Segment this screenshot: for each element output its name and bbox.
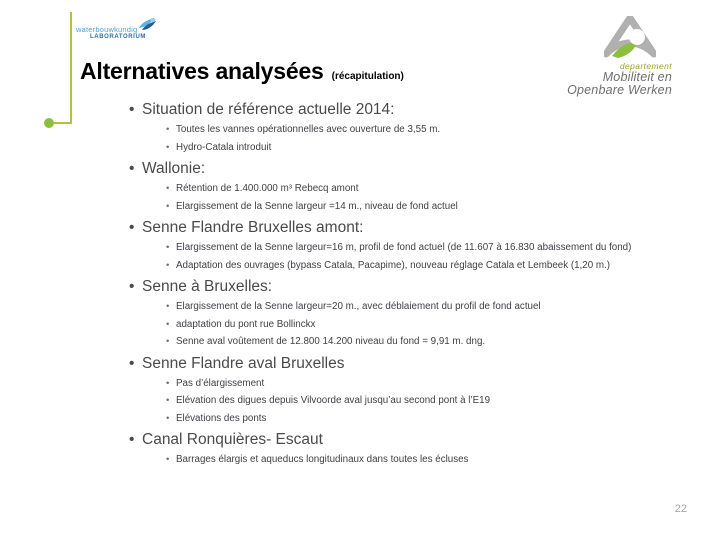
sub-bullet-label: Adaptation des ouvrages (bypass Catala, … [176, 260, 610, 271]
bullet-section: •Senne Flandre Bruxelles amont:•Elargiss… [126, 218, 696, 273]
sub-bullet-item: •Barrages élargis et aqueducs longitudin… [126, 453, 696, 468]
section-heading-label: Wallonie: [142, 160, 205, 177]
section-heading-label: Canal Ronquières- Escaut [142, 431, 323, 448]
sub-bullet-item: •Toutes les vannes opérationnelles avec … [126, 123, 696, 138]
bullet-marker-level2: • [166, 200, 169, 215]
sub-bullet-label: Barrages élargis et aqueducs longitudina… [176, 454, 468, 465]
sub-bullet-label: Toutes les vannes opérationnelles avec o… [176, 124, 440, 135]
sub-bullet-label: Elargissement de la Senne largeur=20 m.,… [176, 301, 541, 312]
bullet-section: •Canal Ronquières- Escaut•Barrages élarg… [126, 430, 696, 468]
triangle-swirl-icon [604, 16, 656, 62]
section-heading: •Canal Ronquières- Escaut [126, 430, 696, 450]
wave-droplet-icon [136, 17, 158, 33]
sub-bullet-item: •Elargissement de la Senne largeur=16 m,… [126, 241, 696, 256]
bullet-marker-level1: • [129, 354, 134, 374]
bullet-marker-level2: • [166, 300, 169, 315]
section-heading-label: Senne à Bruxelles: [142, 278, 272, 295]
sub-bullet-label: adaptation du pont rue Bollinckx [176, 319, 315, 330]
sub-bullet-list: •Elargissement de la Senne largeur=20 m.… [126, 300, 696, 350]
sub-bullet-item: •Elargissement de la Senne largeur =14 m… [126, 200, 696, 215]
waterbouwkundig-laboratorium-logo: waterbouwkundig LABORATORIUM [76, 17, 160, 47]
bullet-marker-level1: • [129, 159, 134, 179]
sub-bullet-list: •Elargissement de la Senne largeur=16 m,… [126, 241, 696, 273]
slide-canvas: waterbouwkundig LABORATORIUM departement… [0, 0, 720, 540]
accent-dot-icon [44, 118, 54, 128]
bullet-marker-level2: • [166, 453, 169, 468]
bullet-marker-level2: • [166, 259, 169, 274]
sub-bullet-item: •Rétention de 1.400.000 m³ Rebecq amont [126, 182, 696, 197]
sub-bullet-item: • adaptation du pont rue Bollinckx [126, 318, 696, 333]
page-title-main: Alternatives analysées [80, 58, 324, 85]
sub-bullet-list: •Barrages élargis et aqueducs longitudin… [126, 453, 696, 468]
bullet-section: •Situation de référence actuelle 2014:•T… [126, 100, 696, 155]
accent-horizontal-line [52, 122, 72, 124]
sub-bullet-label: Pas d’élargissement [176, 378, 264, 389]
sub-bullet-item: •Elévations des ponts [126, 412, 696, 427]
sub-bullet-item: •Elargissement de la Senne largeur=20 m.… [126, 300, 696, 315]
sub-bullet-label: Hydro-Catala introduit [176, 142, 271, 153]
sub-bullet-label: Rétention de 1.400.000 m³ Rebecq amont [176, 183, 358, 194]
logo-word-waterbouwkundig: waterbouwkundig [76, 25, 137, 34]
bullet-marker-level2: • [166, 412, 169, 427]
sub-bullet-list: •Rétention de 1.400.000 m³ Rebecq amont•… [126, 182, 696, 214]
logo-line-openbare-werken: Openbare Werken [567, 83, 672, 97]
bullet-marker-level2: • [166, 394, 169, 409]
slide-body: •Situation de référence actuelle 2014:•T… [126, 96, 696, 469]
section-heading: •Situation de référence actuelle 2014: [126, 100, 696, 120]
section-heading: •Senne à Bruxelles: [126, 277, 696, 297]
section-heading: •Senne Flandre Bruxelles amont: [126, 218, 696, 238]
page-title-subtitle: (récapitulation) [332, 71, 404, 82]
section-heading-label: Situation de référence actuelle 2014: [142, 101, 394, 118]
departement-mow-logo: departement Mobiliteit en Openbare Werke… [544, 16, 704, 98]
sub-bullet-item: •Senne aval voûtement de 12.800 14.200 n… [126, 335, 696, 350]
bullet-marker-level2: • [166, 182, 169, 197]
logo-word-laboratorium: LABORATORIUM [90, 34, 146, 40]
section-heading: •Senne Flandre aval Bruxelles [126, 354, 696, 374]
bullet-marker-level2: • [166, 377, 169, 392]
page-number: 22 [675, 503, 687, 515]
bullet-marker-level1: • [129, 218, 134, 238]
bullet-marker-level1: • [129, 430, 134, 450]
bullet-section: •Senne Flandre aval Bruxelles•Pas d’élar… [126, 354, 696, 427]
sub-bullet-item: •Pas d’élargissement [126, 377, 696, 392]
sub-bullet-item: •Adaptation des ouvrages (bypass Catala,… [126, 259, 696, 274]
section-heading-label: Senne Flandre Bruxelles amont: [142, 219, 363, 236]
section-heading: •Wallonie: [126, 159, 696, 179]
bullet-marker-level1: • [129, 277, 134, 297]
sub-bullet-item: •Hydro-Catala introduit [126, 141, 696, 156]
bullet-marker-level2: • [166, 241, 169, 256]
bullet-marker-level2: • [166, 318, 169, 333]
sub-bullet-label: Elargissement de la Senne largeur=16 m, … [176, 242, 631, 253]
sub-bullet-label: Elévations des ponts [176, 413, 266, 424]
section-heading-label: Senne Flandre aval Bruxelles [142, 355, 344, 372]
sub-bullet-label: Elargissement de la Senne largeur =14 m.… [176, 201, 458, 212]
bullet-marker-level2: • [166, 123, 169, 138]
accent-vertical-line [70, 12, 72, 124]
sub-bullet-item: •Elévation des digues depuis Vilvoorde a… [126, 394, 696, 409]
sub-bullet-label: Senne aval voûtement de 12.800 14.200 ni… [176, 336, 485, 347]
page-title: Alternatives analysées (récapitulation) [80, 58, 404, 85]
bullet-marker-level1: • [129, 100, 134, 120]
bullet-marker-level2: • [166, 141, 169, 156]
bullet-section: •Senne à Bruxelles:•Elargissement de la … [126, 277, 696, 350]
sub-bullet-list: •Toutes les vannes opérationnelles avec … [126, 123, 696, 155]
bullet-marker-level2: • [166, 335, 169, 350]
bullet-section: •Wallonie:•Rétention de 1.400.000 m³ Reb… [126, 159, 696, 214]
sub-bullet-list: •Pas d’élargissement•Elévation des digue… [126, 377, 696, 427]
logo-line-mobiliteit: Mobiliteit en [603, 70, 672, 84]
sub-bullet-label: Elévation des digues depuis Vilvoorde av… [176, 395, 490, 406]
